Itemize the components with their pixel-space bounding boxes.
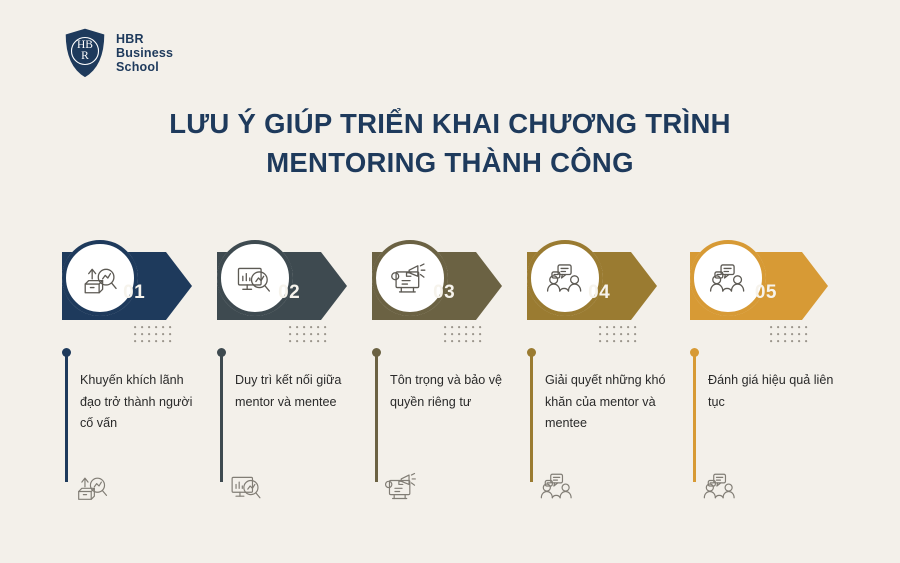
step-badge-01 (62, 240, 138, 316)
dot-grid-decoration (289, 326, 331, 352)
step-caption-04: Giải quyết những khó khăn của mentor và … (545, 370, 673, 435)
process-steps: 01Khuyến khích lãnh đạo trở thành người … (0, 240, 900, 540)
step-caption-02: Duy trì kết nối giữa mentor và mentee (235, 370, 363, 413)
dot-grid-decoration (770, 326, 812, 352)
dot-grid-decoration (599, 326, 641, 352)
step-footer-two-people-chat-icon (702, 468, 738, 504)
dot-grid-decoration (134, 326, 176, 352)
logo-line-1: HBR (116, 32, 173, 46)
step-number-05: 05 (755, 282, 777, 304)
svg-text:R: R (81, 50, 89, 62)
logo-wordmark: HBR Business School (116, 32, 173, 74)
step-caption-01: Khuyến khích lãnh đạo trở thành người cố… (80, 370, 208, 435)
step-badge-03 (372, 240, 448, 316)
step-pin-line (530, 354, 533, 482)
step-pin-line (65, 354, 68, 482)
step-caption-05: Đánh giá hiệu quả liên tục (708, 370, 836, 413)
step-badge-04 (527, 240, 603, 316)
step-caption-03: Tôn trọng và bảo vệ quyền riêng tư (390, 370, 518, 413)
infographic-canvas: HB R HBR Business School LƯU Ý GIÚP TRIỂ… (0, 0, 900, 563)
dot-grid-decoration (444, 326, 486, 352)
step-badge-02 (217, 240, 293, 316)
shield-icon: HB R (63, 27, 107, 79)
page-title: LƯU Ý GIÚP TRIỂN KHAI CHƯƠNG TRÌNH MENTO… (0, 104, 900, 182)
title-line-2: MENTORING THÀNH CÔNG (0, 143, 900, 182)
step-number-04: 04 (588, 282, 610, 304)
logo-line-3: School (116, 60, 173, 74)
step-pin-line (693, 354, 696, 482)
title-line-1: LƯU Ý GIÚP TRIỂN KHAI CHƯƠNG TRÌNH (169, 108, 731, 139)
step-footer-box-growth-magnifier-icon (74, 468, 110, 504)
step-pin-line (220, 354, 223, 482)
step-badge-05 (690, 240, 766, 316)
step-footer-monitor-chart-magnifier-icon (229, 468, 265, 504)
step-number-01: 01 (123, 282, 145, 304)
logo-line-2: Business (116, 46, 173, 60)
step-footer-two-people-chat-icon (539, 468, 575, 504)
step-number-02: 02 (278, 282, 300, 304)
step-footer-billboard-megaphone-icon (384, 468, 420, 504)
step-number-03: 03 (433, 282, 455, 304)
step-pin-line (375, 354, 378, 482)
brand-logo: HB R HBR Business School (63, 27, 173, 79)
